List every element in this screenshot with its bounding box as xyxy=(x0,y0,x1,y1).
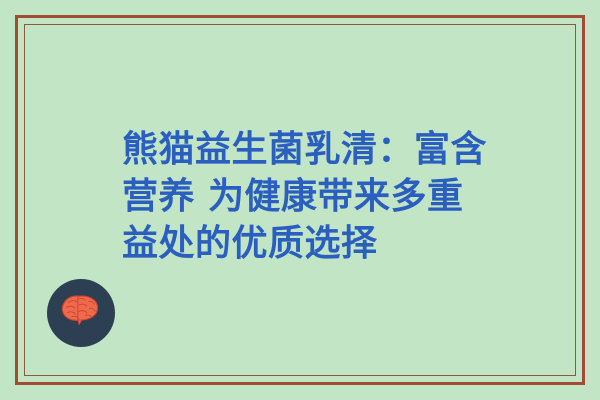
poster-canvas: 熊猫益生菌乳清：富含 营养 为健康带来多重 益处的优质选择 xyxy=(0,0,600,400)
headline-line-2: 营养 为健康带来多重 xyxy=(122,173,502,220)
headline-line-1: 熊猫益生菌乳清：富含 xyxy=(122,126,502,173)
brain-icon xyxy=(59,293,103,333)
brain-badge xyxy=(47,279,115,347)
headline-line-3: 益处的优质选择 xyxy=(122,220,502,267)
headline-block: 熊猫益生菌乳清：富含 营养 为健康带来多重 益处的优质选择 xyxy=(122,126,502,267)
